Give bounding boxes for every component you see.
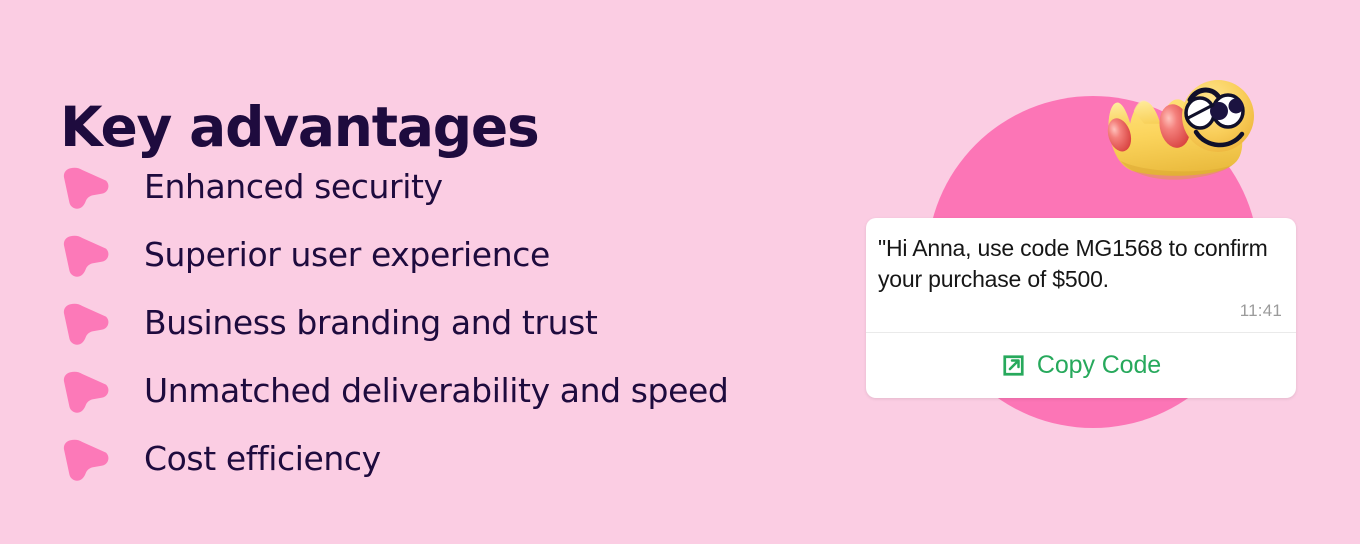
rounded-triangle-bullet-icon xyxy=(62,370,110,414)
bullet-wrap xyxy=(58,424,144,492)
list-item-label: Enhanced security xyxy=(144,170,443,203)
list-item: Business branding and trust xyxy=(58,288,858,356)
bullet-wrap xyxy=(58,356,144,424)
message-text: "Hi Anna, use code MG1568 to confirm you… xyxy=(878,233,1284,295)
illustration-panel: "Hi Anna, use code MG1568 to confirm you… xyxy=(860,0,1360,544)
rounded-triangle-bullet-icon xyxy=(62,234,110,278)
list-item-label: Superior user experience xyxy=(144,238,550,271)
list-item: Superior user experience xyxy=(58,220,858,288)
sms-message-card: "Hi Anna, use code MG1568 to confirm you… xyxy=(866,218,1296,398)
promo-banner: Key advantages Enhanced security Superio… xyxy=(0,0,1360,544)
list-item: Cost efficiency xyxy=(58,424,858,492)
list-item: Enhanced security xyxy=(58,152,858,220)
copy-code-button[interactable]: Copy Code xyxy=(866,333,1296,398)
advantages-list: Enhanced security Superior user experien… xyxy=(58,152,858,492)
rounded-triangle-bullet-icon xyxy=(62,438,110,482)
list-item-label: Unmatched deliverability and speed xyxy=(144,374,728,407)
list-item-label: Business branding and trust xyxy=(144,306,597,339)
rounded-triangle-bullet-icon xyxy=(62,166,110,210)
rounded-triangle-bullet-icon xyxy=(62,302,110,346)
external-link-icon xyxy=(1001,353,1026,378)
message-body: "Hi Anna, use code MG1568 to confirm you… xyxy=(866,218,1296,332)
bullet-wrap xyxy=(58,288,144,356)
crown-with-winking-face-emoji xyxy=(1092,76,1260,188)
message-timestamp: 11:41 xyxy=(1240,301,1282,321)
list-item-label: Cost efficiency xyxy=(144,442,381,475)
page-title: Key advantages xyxy=(60,99,539,157)
bullet-wrap xyxy=(58,220,144,288)
advantages-panel: Key advantages Enhanced security Superio… xyxy=(0,0,860,544)
bullet-wrap xyxy=(58,152,144,220)
list-item: Unmatched deliverability and speed xyxy=(58,356,858,424)
copy-code-label: Copy Code xyxy=(1037,353,1161,378)
